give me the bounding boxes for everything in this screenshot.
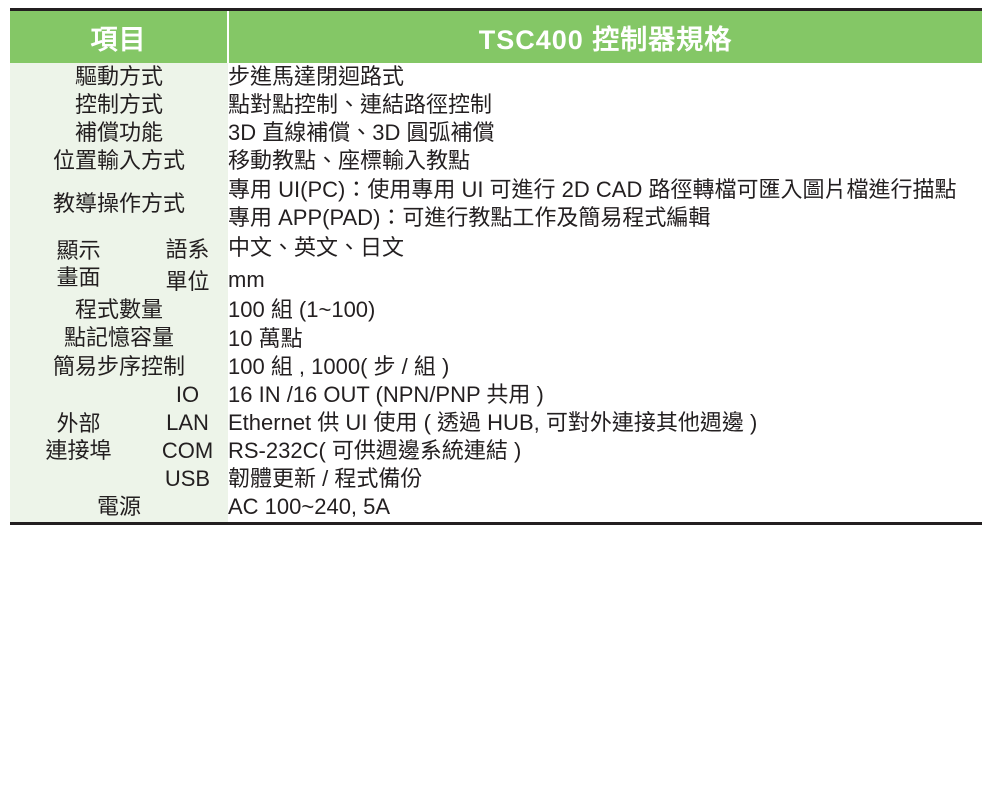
table-row: 控制方式 點對點控制、連結路徑控制: [10, 91, 982, 119]
row-value-compensation: 3D 直線補償、3D 圓弧補償: [228, 119, 982, 147]
row-label-display-screen: 顯示 畫面: [10, 232, 147, 296]
row-label-external-ports: 外部 連接埠: [10, 381, 147, 494]
row-value-teaching-operation-pad: 專用 APP(PAD)：可進行教點工作及簡易程式編輯: [228, 204, 982, 232]
row-value-sequence-control: 100 組 , 1000( 步 / 組 ): [228, 353, 982, 381]
row-value-teaching-operation-pc: 專用 UI(PC)：使用專用 UI 可進行 2D CAD 路徑轉檔可匯入圖片檔進…: [228, 176, 982, 205]
row-value-position-input: 移動教點、座標輸入教點: [228, 147, 982, 175]
row-label-drive-method: 驅動方式: [10, 63, 228, 91]
sub-label-com: COM: [147, 437, 228, 465]
table-row: 簡易步序控制 100 組 , 1000( 步 / 組 ): [10, 353, 982, 381]
row-label-power-supply: 電源: [10, 493, 228, 523]
table-row: 單位 mm: [10, 264, 982, 296]
row-value-lan: Ethernet 供 UI 使用 ( 透過 HUB, 可對外連接其他週邊 ): [228, 409, 982, 437]
row-label-position-input: 位置輸入方式: [10, 147, 228, 175]
header-spec-column: TSC400 控制器規格: [228, 10, 982, 64]
row-value-usb: 韌體更新 / 程式備份: [228, 465, 982, 493]
sub-label-io: IO: [147, 381, 228, 409]
table-row: 顯示 畫面 語系 中文、英文、日文: [10, 232, 982, 264]
table-row: USB 韌體更新 / 程式備份: [10, 465, 982, 493]
row-value-io: 16 IN /16 OUT (NPN/PNP 共用 ): [228, 381, 982, 409]
row-label-program-count: 程式數量: [10, 296, 228, 324]
table-row: LAN Ethernet 供 UI 使用 ( 透過 HUB, 可對外連接其他週邊…: [10, 409, 982, 437]
display-screen-label-line1: 顯示: [56, 238, 100, 263]
row-label-compensation: 補償功能: [10, 119, 228, 147]
row-value-com: RS-232C( 可供週邊系統連結 ): [228, 437, 982, 465]
table-row: 程式數量 100 組 (1~100): [10, 296, 982, 324]
display-screen-label-line2: 畫面: [56, 265, 100, 290]
row-label-teaching-operation: 教導操作方式: [10, 176, 228, 233]
table-row: 位置輸入方式 移動教點、座標輸入教點: [10, 147, 982, 175]
row-label-sequence-control: 簡易步序控制: [10, 353, 228, 381]
header-item-column: 項目: [10, 10, 228, 64]
table-row: 電源 AC 100~240, 5A: [10, 493, 982, 523]
sub-label-usb: USB: [147, 465, 228, 493]
sub-label-language: 語系: [147, 232, 228, 264]
external-ports-label-line2: 連接埠: [45, 438, 111, 463]
table-row: 驅動方式 步進馬達閉迴路式: [10, 63, 982, 91]
row-value-drive-method: 步進馬達閉迴路式: [228, 63, 982, 91]
row-label-point-memory: 點記憶容量: [10, 325, 228, 353]
table-header-row: 項目 TSC400 控制器規格: [10, 10, 982, 64]
row-value-program-count: 100 組 (1~100): [228, 296, 982, 324]
row-value-control-method: 點對點控制、連結路徑控制: [228, 91, 982, 119]
table-row: 外部 連接埠 IO 16 IN /16 OUT (NPN/PNP 共用 ): [10, 381, 982, 409]
row-value-unit: mm: [228, 264, 982, 296]
row-value-language: 中文、英文、日文: [228, 232, 982, 264]
controller-spec-table: 項目 TSC400 控制器規格 驅動方式 步進馬達閉迴路式 控制方式 點對點控制…: [10, 8, 982, 525]
table-row: 教導操作方式 專用 UI(PC)：使用專用 UI 可進行 2D CAD 路徑轉檔…: [10, 176, 982, 205]
row-label-control-method: 控制方式: [10, 91, 228, 119]
table-row: 補償功能 3D 直線補償、3D 圓弧補償: [10, 119, 982, 147]
table-row: 點記憶容量 10 萬點: [10, 325, 982, 353]
sub-label-unit: 單位: [147, 264, 228, 296]
sub-label-lan: LAN: [147, 409, 228, 437]
table-row: COM RS-232C( 可供週邊系統連結 ): [10, 437, 982, 465]
row-value-power-supply: AC 100~240, 5A: [228, 493, 982, 523]
external-ports-label-line1: 外部: [56, 411, 100, 436]
row-value-point-memory: 10 萬點: [228, 325, 982, 353]
spec-table-container: 項目 TSC400 控制器規格 驅動方式 步進馬達閉迴路式 控制方式 點對點控制…: [10, 8, 982, 525]
